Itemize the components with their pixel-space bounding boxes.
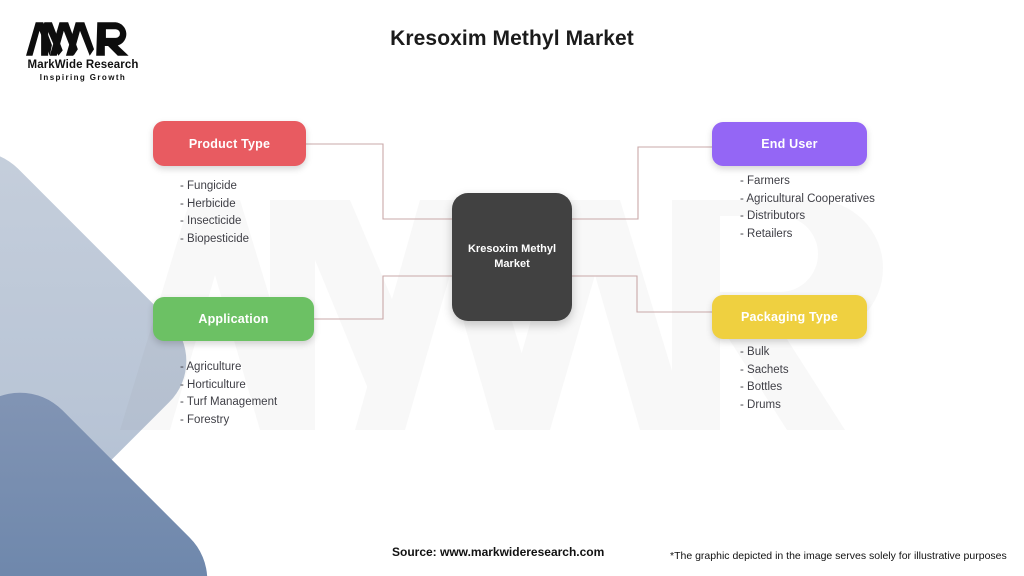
center-node-label-line2: Market <box>494 258 529 270</box>
list-item: - Sachets <box>740 362 789 380</box>
infographic-canvas: MarkWide Research Inspiring Growth Kreso… <box>0 0 1024 576</box>
segment-label-packaging-type: Packaging Type <box>741 310 838 324</box>
list-item: - Distributors <box>740 208 875 226</box>
segment-items-application: - Agriculture - Horticulture - Turf Mana… <box>180 359 277 429</box>
segment-label-application: Application <box>198 312 268 326</box>
segment-label-product-type: Product Type <box>189 137 270 151</box>
disclaimer-label: *The graphic depicted in the image serve… <box>670 550 1007 562</box>
logo-brand-name: MarkWide Research <box>18 59 148 72</box>
segment-node-end-user[interactable]: End User <box>712 122 867 166</box>
list-item: - Fungicide <box>180 178 249 196</box>
list-item: - Bulk <box>740 344 789 362</box>
list-item: - Bottles <box>740 379 789 397</box>
list-item: - Insecticide <box>180 213 249 231</box>
connector-product-type <box>306 144 452 219</box>
segment-items-end-user: - Farmers - Agricultural Cooperatives - … <box>740 173 875 243</box>
list-item: - Agriculture <box>180 359 277 377</box>
segment-items-packaging-type: - Bulk - Sachets - Bottles - Drums <box>740 344 789 414</box>
segment-label-end-user: End User <box>761 137 817 151</box>
list-item: - Forestry <box>180 412 277 430</box>
segment-items-product-type: - Fungicide - Herbicide - Insecticide - … <box>180 178 249 248</box>
segment-node-application[interactable]: Application <box>153 297 314 341</box>
source-label: Source: www.markwideresearch.com <box>392 545 604 559</box>
list-item: - Herbicide <box>180 196 249 214</box>
connector-application <box>314 276 452 319</box>
list-item: - Retailers <box>740 226 875 244</box>
list-item: - Drums <box>740 397 789 415</box>
list-item: - Horticulture <box>180 377 277 395</box>
segment-node-packaging-type[interactable]: Packaging Type <box>712 295 867 339</box>
list-item: - Agricultural Cooperatives <box>740 191 875 209</box>
page-title: Kresoxim Methyl Market <box>0 27 1024 51</box>
list-item: - Farmers <box>740 173 875 191</box>
list-item: - Biopesticide <box>180 231 249 249</box>
logo-tagline: Inspiring Growth <box>18 73 148 83</box>
center-node: Kresoxim Methyl Market <box>452 193 572 321</box>
segment-node-product-type[interactable]: Product Type <box>153 121 306 166</box>
center-node-label-line1: Kresoxim Methyl <box>468 243 556 255</box>
connector-end-user <box>572 147 712 219</box>
connector-packaging-type <box>572 276 712 312</box>
list-item: - Turf Management <box>180 394 277 412</box>
